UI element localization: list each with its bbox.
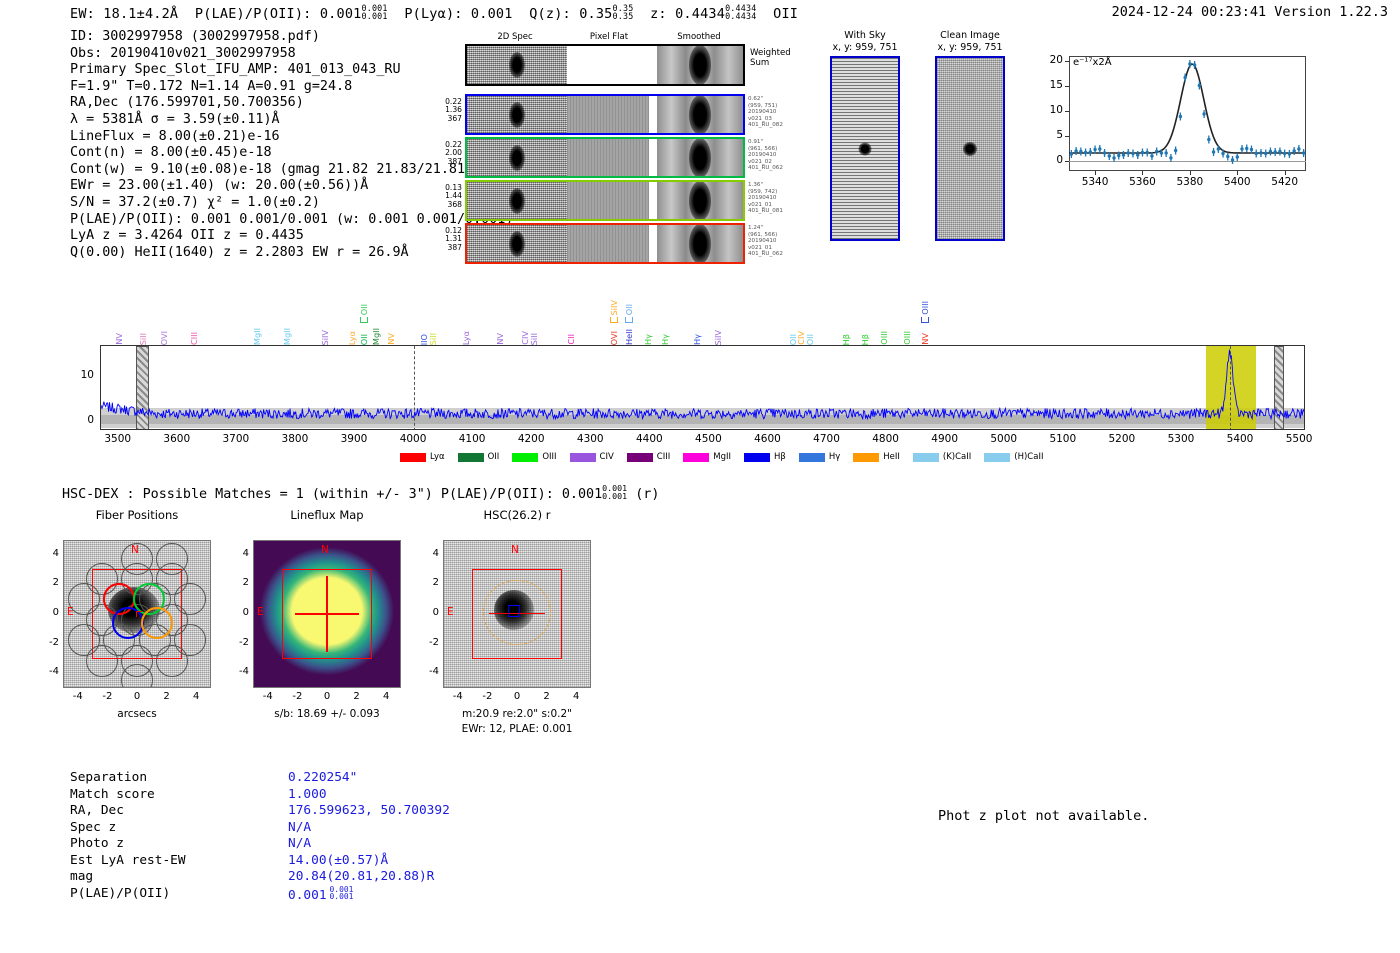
- lineplot-model-curve: [1035, 50, 1310, 195]
- match-table-key-1: Match score: [70, 787, 155, 804]
- spectrum-xtick-label: 5300: [1155, 433, 1207, 445]
- spectrum-axes: e⁻¹⁷x2Å: [100, 345, 1305, 430]
- spectrum-legend-item-8: HeII: [853, 452, 900, 462]
- timestamp-version: 2024-12-24 00:23:41 Version 1.22.3: [1112, 4, 1388, 20]
- spec2d-stat: 368: [420, 201, 462, 209]
- spectrum-line-label-SiIV: SiIV: [609, 300, 619, 316]
- source-blob: [509, 145, 525, 171]
- cutout-image-1: [935, 56, 1005, 241]
- panel-caption-1: s/b: 18.69 +/- 0.093: [231, 708, 423, 720]
- header-ew: EW: 18.1±4.2Å: [70, 6, 178, 22]
- header-z-type: OII: [773, 6, 798, 22]
- spec2d-row: [465, 44, 745, 86]
- spec2d-pixel-flat: [567, 182, 649, 219]
- spectrum-xtick-label: 4200: [505, 433, 557, 445]
- legend-swatch: [913, 453, 939, 462]
- spectrum-xtick-label: 3500: [92, 433, 144, 445]
- spectrum-xtick-label: 4100: [446, 433, 498, 445]
- smoothed-blob: [689, 182, 711, 219]
- cutout-subtitle-text: x, y: 959, 751: [925, 42, 1015, 54]
- spectrum-xtick-label: 5100: [1037, 433, 1089, 445]
- spectrum-line-label-Lyα: Lyα: [461, 331, 471, 345]
- smoothed-blob: [689, 139, 711, 176]
- spectrum-xtick-label: 3700: [210, 433, 262, 445]
- spectrum-line-label-OVI: OVI: [609, 331, 619, 345]
- header-z-label: z:: [650, 6, 667, 22]
- spectrum-line-label-OIII: OIII: [902, 331, 912, 345]
- panel-xlabel-0: arcsecs: [63, 708, 211, 720]
- spectrum-line-label-NV: NV: [114, 333, 124, 345]
- spectrum-line-label-Hγ: Hγ: [643, 334, 653, 345]
- legend-label: OIII: [542, 452, 556, 462]
- spec2d-row: [465, 137, 745, 178]
- center-square: [508, 605, 520, 617]
- spectrum-line-label-OII: OII: [805, 334, 815, 345]
- cutout-source-blob: [859, 142, 872, 155]
- panel-xtick-2: -2: [476, 691, 498, 702]
- spectrum-line-label-OIII: OIII: [879, 331, 889, 345]
- panel-xtick-1: -2: [286, 691, 308, 702]
- panel-ytick-2: -4: [419, 666, 439, 677]
- header-qz-value: 0.35: [579, 6, 612, 22]
- panel-ytick-1: -4: [229, 666, 249, 677]
- spectrum-line-label-SiII: SiII: [529, 333, 539, 345]
- catalog-headline-prefix: HSC-DEX : Possible Matches = 1 (within +…: [62, 487, 554, 502]
- fiber-circle: [156, 645, 188, 677]
- catalog-headline-suffix: (r): [635, 487, 659, 502]
- spectrum-xtick-label: 4500: [682, 433, 734, 445]
- panel-image-0: [63, 540, 211, 688]
- spectrum-legend-item-7: Hγ: [799, 452, 840, 462]
- legend-label: OII: [488, 452, 500, 462]
- spectrum-line-label-OII: OII: [359, 334, 369, 345]
- spectrum-line-labels: NVSiIIOVICIIIMgIIMgIISiIVLyαOIIOIIMgIINV…: [100, 278, 1305, 345]
- spec2d-smoothed-image: [657, 225, 743, 262]
- panel-xtick-2: -4: [447, 691, 469, 702]
- fiber-highlight-3: [141, 607, 173, 639]
- compass-east-2: E: [447, 606, 454, 618]
- cutout-group: With Skyx, y: 959, 751Clean Imagex, y: 9…: [820, 30, 1020, 245]
- spec2d-gap: [649, 182, 657, 219]
- match-table-key-0: Separation: [70, 770, 147, 787]
- spectrum-line-label-HeII: HeII: [624, 329, 634, 345]
- spec2d-raw-image: [467, 96, 567, 133]
- spectrum-line-label-OII: OII: [359, 304, 369, 315]
- cutout-title-1: Clean Imagex, y: 959, 751: [925, 30, 1015, 53]
- legend-label: Hγ: [829, 452, 840, 462]
- full-spectrum-plot: e⁻¹⁷x2Å: [100, 345, 1305, 430]
- match-table-value-3: N/A: [288, 820, 311, 837]
- legend-label: CIII: [657, 452, 670, 462]
- compass-north-1: N: [321, 544, 329, 556]
- spec2d-row-stats-0: 0.221.36367: [420, 98, 462, 123]
- match-table-key-6: mag: [70, 869, 93, 886]
- header-plae-label: P(LAE)/P(OII):: [195, 6, 312, 22]
- panel-ytick-0: 0: [39, 607, 59, 618]
- spectrum-line-label-OIII: OIII: [920, 301, 930, 315]
- panel-xtick-0: -2: [96, 691, 118, 702]
- compass-east-1: E: [257, 606, 264, 618]
- panel-xtick-0: -4: [67, 691, 89, 702]
- panel-caption2-2: EWr: 12, PLAE: 0.001: [421, 723, 613, 735]
- spec2d-gap: [649, 225, 657, 262]
- spectrum-line-label-NV: NV: [386, 333, 396, 345]
- legend-swatch: [400, 453, 426, 462]
- spectrum-y-axis: 010: [70, 345, 100, 430]
- panel-ytick-1: -2: [229, 637, 249, 648]
- match-table-plae-range: 0.0010.001: [330, 886, 354, 902]
- header-plae-value: 0.001: [320, 6, 362, 22]
- spec2d-raw-image: [467, 225, 567, 262]
- spectrum-legend-item-5: MgII: [683, 452, 731, 462]
- spectrum-xtick-label: 4000: [387, 433, 439, 445]
- panel-xtick-2: 4: [565, 691, 587, 702]
- spectrum-line-label-Hγ: Hγ: [692, 334, 702, 345]
- spec2d-row-stats-1: 0.222.00387: [420, 141, 462, 166]
- match-table-plae-lo: 0.001: [330, 892, 354, 901]
- spectrum-line-label-OVI: OVI: [159, 331, 169, 345]
- panel-ytick-0: -2: [39, 637, 59, 648]
- spectrum-ytick-label: 0: [70, 414, 94, 426]
- emission-line-plot: e⁻¹⁷x2Å0510152053405360538054005420: [1035, 50, 1310, 195]
- spectrum-line-label-CII: CII: [566, 334, 576, 345]
- legend-swatch: [984, 453, 1010, 462]
- spec2d-column-header-2: Smoothed: [652, 32, 746, 42]
- match-table-value-2: 176.599623, 50.700392: [288, 803, 450, 820]
- spectrum-line-label-SiII: SiII: [428, 333, 438, 345]
- spec2d-raw-image: [467, 182, 567, 219]
- spec2d-row: [465, 223, 745, 264]
- legend-swatch: [627, 453, 653, 462]
- spectrum-legend: LyαOIIOIIICIVCIIIMgIIHβHγHeII(K)CaII(H)C…: [400, 452, 1056, 462]
- legend-label: (K)CaII: [943, 452, 971, 462]
- center-marker: [136, 611, 142, 617]
- spec2d-pixel-flat: [567, 96, 649, 133]
- spec2d-smoothed-image: [657, 139, 743, 176]
- spec2d-row: [465, 180, 745, 221]
- panel-xtick-0: 4: [185, 691, 207, 702]
- spec2d-gap: [649, 46, 657, 84]
- spectrum-line-bracket: [625, 317, 633, 323]
- spectrum-ytick-label: 10: [70, 369, 94, 381]
- legend-swatch: [799, 453, 825, 462]
- spec2d-row: [465, 94, 745, 135]
- legend-swatch: [683, 453, 709, 462]
- spec2d-meta: 401_RU_062: [748, 251, 838, 258]
- spectrum-line-label-Hβ: Hβ: [841, 334, 851, 345]
- compass-east-0: E: [67, 606, 74, 618]
- match-table-value-6: 20.84(20.81,20.88)R: [288, 869, 434, 886]
- panel-caption-2: m:20.9 re:2.0" s:0.2": [421, 708, 613, 720]
- spectrum-line-bracket: [360, 317, 368, 323]
- spectrum-line-label-SiIV: SiIV: [320, 330, 330, 346]
- source-blob: [509, 231, 525, 257]
- panel-xtick-0: 2: [156, 691, 178, 702]
- spec2d-row-stats-2: 0.131.44368: [420, 184, 462, 209]
- spectrum-legend-item-0: Lyα: [400, 452, 445, 462]
- spectrum-xtick-label: 4600: [741, 433, 793, 445]
- spectrum-xtick-label: 5500: [1273, 433, 1325, 445]
- spectrum-legend-item-6: Hβ: [744, 452, 786, 462]
- spectrum-line-label-Hβ: Hβ: [860, 334, 870, 345]
- spectrum-line-label-OII: OII: [624, 304, 634, 315]
- image-panel-group: Fiber PositionsNE-4-4-2-2002244arcsecsLi…: [55, 508, 675, 738]
- spec2d-panel-group: 2D SpecPixel FlatSmoothedWeighted Sum0.2…: [420, 32, 760, 247]
- panel-ytick-2: 4: [419, 548, 439, 559]
- spectrum-legend-item-4: CIII: [627, 452, 670, 462]
- spec2d-row-stats-3: 0.121.31387: [420, 227, 462, 252]
- panel-title-1: Lineflux Map: [253, 508, 401, 522]
- cutout-title-text: With Sky: [820, 30, 910, 42]
- header-z-lo: 0.4434: [725, 11, 756, 21]
- spectrum-xtick-label: 4900: [919, 433, 971, 445]
- match-table-key-2: RA, Dec: [70, 803, 124, 820]
- panel-ytick-1: 0: [229, 607, 249, 618]
- spectrum-line-label-Hγ: Hγ: [660, 334, 670, 345]
- spectrum-line-label-Lyα: Lyα: [347, 331, 357, 345]
- match-table-key-5: Est LyA rest-EW: [70, 853, 186, 870]
- smoothed-blob: [689, 96, 711, 133]
- spectrum-legend-item-2: OIII: [512, 452, 556, 462]
- panel-xtick-2: 2: [536, 691, 558, 702]
- cutout-title-text: Clean Image: [925, 30, 1015, 42]
- source-blob: [509, 102, 525, 128]
- panel-image-1: [253, 540, 401, 688]
- legend-swatch: [512, 453, 538, 462]
- match-table-key-3: Spec z: [70, 820, 116, 837]
- panel-ytick-1: 4: [229, 548, 249, 559]
- spectrum-legend-item-3: CIV: [570, 452, 614, 462]
- spectrum-line-label-NV: NV: [920, 333, 930, 345]
- panel-ytick-1: 2: [229, 577, 249, 588]
- match-table-value-4: N/A: [288, 836, 311, 853]
- header-plae-lo: 0.001: [361, 11, 387, 21]
- spectrum-line-label-MgII: MgII: [282, 328, 292, 345]
- spec2d-column-header-0: 2D Spec: [465, 32, 565, 42]
- spectrum-xtick-label: 3600: [151, 433, 203, 445]
- spec2d-pixel-flat: [567, 46, 649, 84]
- catalog-headline-value: 0.001: [562, 487, 602, 502]
- fiber-circle: [86, 645, 118, 677]
- panel-xtick-1: 4: [375, 691, 397, 702]
- spectrum-xtick-label: 4400: [623, 433, 675, 445]
- compass-north-2: N: [511, 544, 519, 556]
- spectrum-line-bracket: [610, 317, 618, 323]
- spec2d-smoothed-image: [657, 46, 743, 84]
- header-qz-label: Q(z):: [529, 6, 571, 22]
- spec2d-smoothed-image: [657, 96, 743, 133]
- header-z-value: 0.4434: [675, 6, 725, 22]
- spec2d-column-header-1: Pixel Flat: [568, 32, 650, 42]
- panel-ytick-2: 0: [419, 607, 439, 618]
- spectrum-xtick-label: 4700: [801, 433, 853, 445]
- spectrum-line-label-SiIV: SiIV: [713, 330, 723, 346]
- cutout-source-blob: [963, 142, 977, 156]
- spectrum-legend-item-1: OII: [458, 452, 500, 462]
- weighted-sum-label: Weighted Sum: [750, 48, 791, 68]
- spec2d-stat: 367: [420, 115, 462, 123]
- panel-title-2: HSC(26.2) r: [443, 508, 591, 522]
- header-plya: P(Lyα): 0.001: [404, 6, 512, 22]
- photoz-message: Phot z plot not available.: [938, 808, 1149, 824]
- legend-label: (H)CaII: [1014, 452, 1043, 462]
- panel-xtick-1: -4: [257, 691, 279, 702]
- panel-ytick-2: 2: [419, 577, 439, 588]
- spectrum-legend-item-9: (K)CaII: [913, 452, 971, 462]
- source-blob: [509, 52, 525, 78]
- panel-xtick-2: 0: [506, 691, 528, 702]
- spectrum-xtick-label: 5400: [1214, 433, 1266, 445]
- panel-xtick-1: 2: [346, 691, 368, 702]
- spectrum-legend-item-10: (H)CaII: [984, 452, 1043, 462]
- crosshair-v: [326, 576, 328, 652]
- spectrum-xtick-label: 3800: [269, 433, 321, 445]
- panel-ytick-0: 4: [39, 548, 59, 559]
- spec2d-meta: v021_01: [748, 245, 838, 252]
- compass-north-0: N: [131, 544, 139, 556]
- cutout-title-0: With Skyx, y: 959, 751: [820, 30, 910, 53]
- spec2d-raw-image: [467, 46, 567, 84]
- panel-xtick-1: 0: [316, 691, 338, 702]
- legend-label: MgII: [713, 452, 731, 462]
- spec2d-stat: 387: [420, 158, 462, 166]
- legend-swatch: [853, 453, 879, 462]
- spectrum-xtick-label: 3900: [328, 433, 380, 445]
- spectrum-line-bracket: [921, 317, 929, 323]
- panel-title-0: Fiber Positions: [63, 508, 211, 522]
- legend-swatch: [570, 453, 596, 462]
- catalog-headline: HSC-DEX : Possible Matches = 1 (within +…: [62, 484, 659, 502]
- spectrum-x-axis: 3500360037003800390040004100420043004400…: [100, 430, 1305, 448]
- panel-image-2: [443, 540, 591, 688]
- match-table-key-7: P(LAE)/P(OII): [70, 886, 170, 903]
- cutout-subtitle-text: x, y: 959, 751: [820, 42, 910, 54]
- spec2d-pixel-flat: [567, 225, 649, 262]
- spectrum-xtick-label: 5200: [1096, 433, 1148, 445]
- spectrum-xtick-label: 4800: [860, 433, 912, 445]
- panel-xtick-0: 0: [126, 691, 148, 702]
- spectrum-line-label-MgII: MgII: [371, 328, 381, 345]
- spec2d-raw-image: [467, 139, 567, 176]
- catalog-headline-lo: 0.001: [602, 491, 627, 501]
- legend-label: CIV: [600, 452, 614, 462]
- legend-swatch: [744, 453, 770, 462]
- header-summary: EW: 18.1±4.2Å P(LAE)/P(OII): 0.0010.0010…: [70, 4, 798, 22]
- spec2d-gap: [649, 139, 657, 176]
- spectrum-xtick-label: 5000: [978, 433, 1030, 445]
- match-table-value-7: 0.0010.0010.001: [288, 886, 353, 904]
- spec2d-gap: [649, 96, 657, 133]
- panel-ytick-0: -4: [39, 666, 59, 677]
- legend-swatch: [458, 453, 484, 462]
- smoothed-blob: [689, 46, 711, 84]
- spec2d-stat: 387: [420, 244, 462, 252]
- source-blob: [509, 188, 525, 214]
- match-table-value-0: 0.220254": [288, 770, 357, 787]
- legend-label: HeII: [883, 452, 900, 462]
- legend-label: Hβ: [774, 452, 786, 462]
- panel-ytick-2: -2: [419, 637, 439, 648]
- spectrum-line-label-CIII: CIII: [189, 332, 199, 345]
- match-table-value-5: 14.00(±0.57)Å: [288, 853, 388, 870]
- spectrum-trace: [101, 346, 1305, 430]
- spectrum-line-label-MgII: MgII: [252, 328, 262, 345]
- smoothed-blob: [689, 225, 711, 262]
- spectrum-line-label-SiII: SiII: [138, 333, 148, 345]
- panel-ytick-0: 2: [39, 577, 59, 588]
- match-table-key-4: Photo z: [70, 836, 124, 853]
- spec2d-pixel-flat: [567, 139, 649, 176]
- spectrum-line-label-NV: NV: [495, 333, 505, 345]
- spec2d-smoothed-image: [657, 182, 743, 219]
- spectrum-xtick-label: 4300: [564, 433, 616, 445]
- header-qz-lo: 0.35: [613, 11, 634, 21]
- match-table-value-1: 1.000: [288, 787, 327, 804]
- cutout-image-0: [830, 56, 900, 241]
- legend-label: Lyα: [430, 452, 445, 462]
